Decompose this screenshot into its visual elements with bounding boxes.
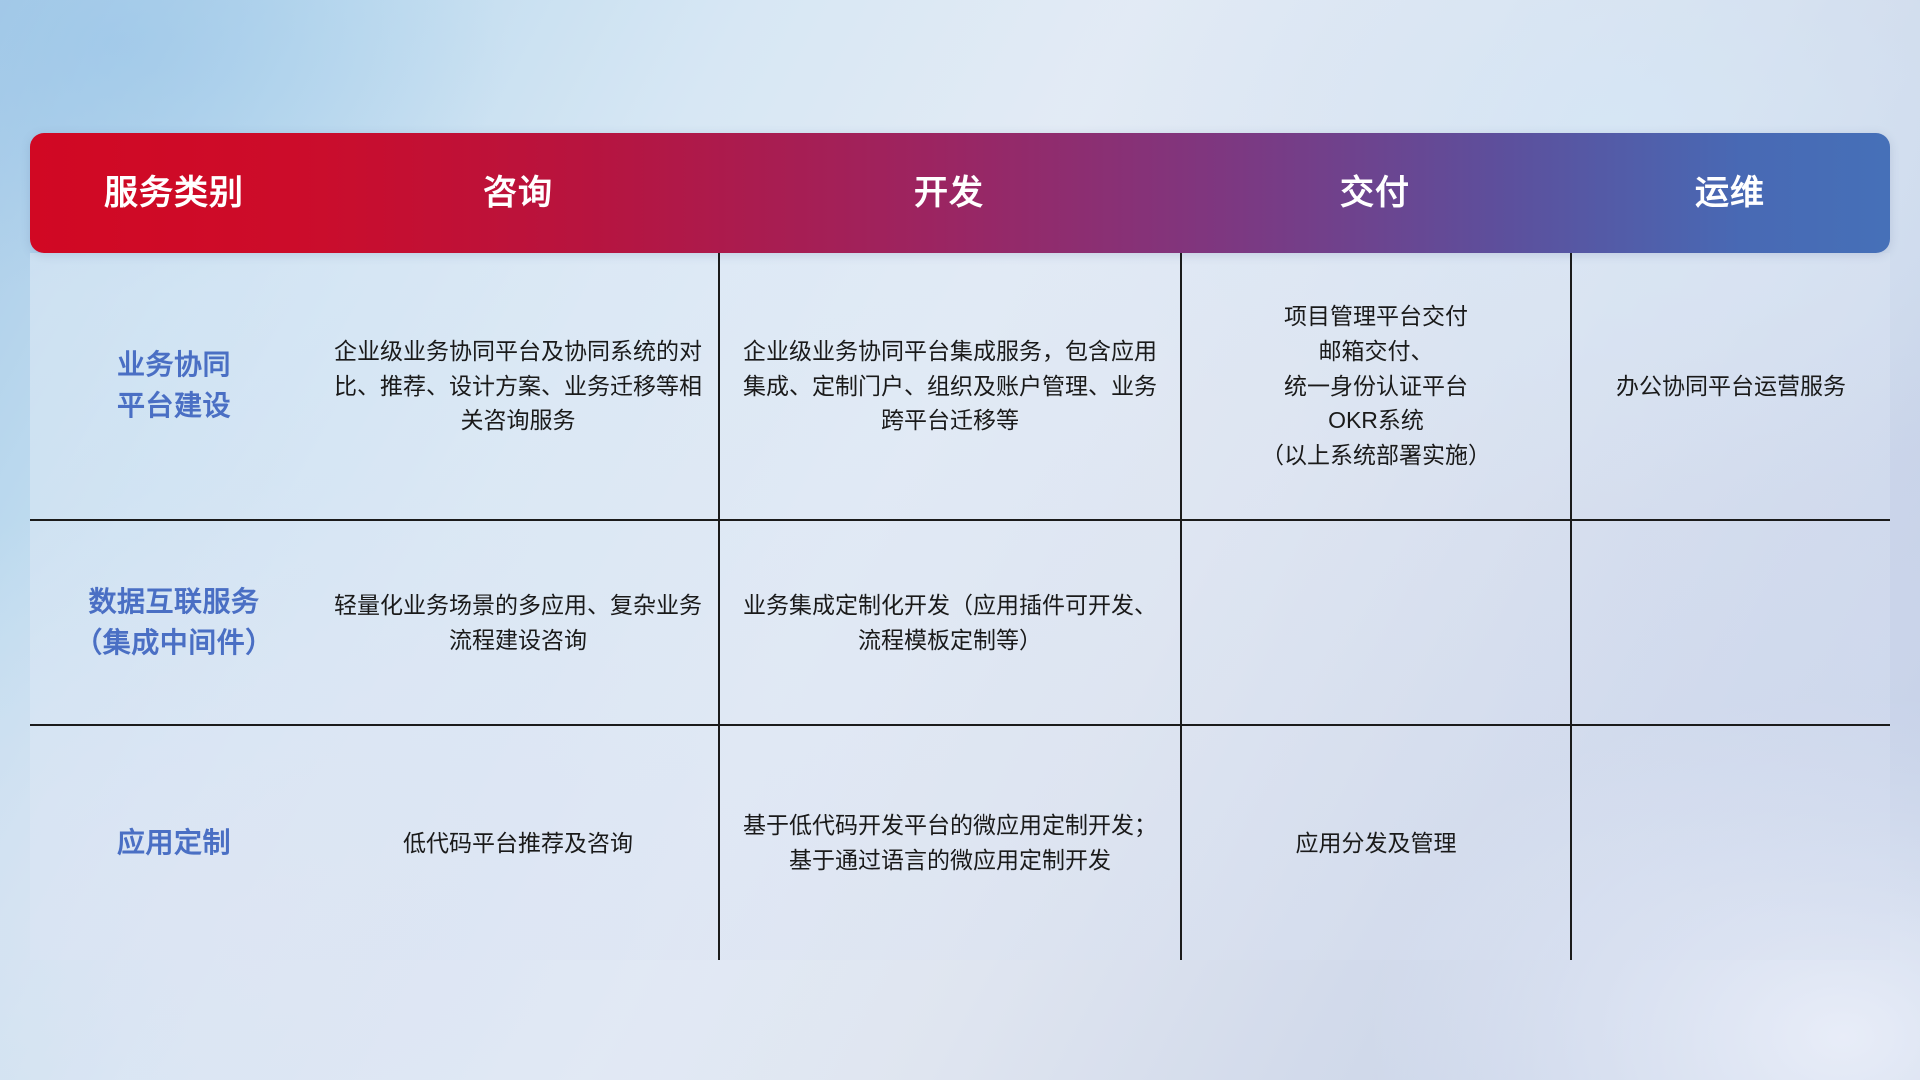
category-label: 应用定制	[117, 823, 231, 864]
column-header-service-category: 服务类别	[30, 176, 318, 210]
table-row: 应用定制 低代码平台推荐及咨询 基于低代码开发平台的微应用定制开发；基于通过语言…	[30, 726, 1890, 960]
cell-operations	[1570, 726, 1890, 960]
column-header-development: 开发	[718, 176, 1180, 210]
table-row: 数据互联服务（集成中间件） 轻量化业务场景的多应用、复杂业务流程建设咨询 业务集…	[30, 521, 1890, 726]
cell-text: 轻量化业务场景的多应用、复杂业务流程建设咨询	[332, 588, 704, 658]
column-header-delivery: 交付	[1180, 176, 1570, 210]
category-label: 数据互联服务（集成中间件）	[74, 582, 274, 663]
cell-consulting: 企业级业务协同平台及协同系统的对比、推荐、设计方案、业务迁移等相关咨询服务	[318, 253, 718, 519]
cell-delivery: 应用分发及管理	[1180, 726, 1570, 960]
category-label: 业务协同平台建设	[117, 345, 231, 426]
column-header-operations: 运维	[1570, 176, 1890, 210]
row-category-cell: 应用定制	[30, 726, 318, 960]
cell-text: 办公协同平台运营服务	[1616, 369, 1846, 404]
service-matrix-table: 服务类别 咨询 开发 交付 运维 业务协同平台建设 企业级业务协同平台及协同系统…	[30, 133, 1890, 960]
cell-delivery	[1180, 521, 1570, 724]
cell-consulting: 轻量化业务场景的多应用、复杂业务流程建设咨询	[318, 521, 718, 724]
cell-development: 基于低代码开发平台的微应用定制开发；基于通过语言的微应用定制开发	[718, 726, 1180, 960]
cell-text: 项目管理平台交付邮箱交付、统一身份认证平台OKR系统（以上系统部署实施）	[1261, 299, 1491, 474]
cell-text: 应用分发及管理	[1296, 826, 1457, 861]
table-header-row: 服务类别 咨询 开发 交付 运维	[30, 133, 1890, 253]
cell-text: 企业级业务协同平台及协同系统的对比、推荐、设计方案、业务迁移等相关咨询服务	[332, 334, 704, 439]
cell-text: 基于低代码开发平台的微应用定制开发；基于通过语言的微应用定制开发	[743, 808, 1157, 878]
row-category-cell: 数据互联服务（集成中间件）	[30, 521, 318, 724]
cell-development: 企业级业务协同平台集成服务，包含应用集成、定制门户、组织及账户管理、业务跨平台迁…	[718, 253, 1180, 519]
cell-consulting: 低代码平台推荐及咨询	[318, 726, 718, 960]
cell-operations: 办公协同平台运营服务	[1570, 253, 1890, 519]
cell-text: 业务集成定制化开发（应用插件可开发、流程模板定制等）	[734, 588, 1166, 658]
column-header-consulting: 咨询	[318, 176, 718, 210]
cell-text: 企业级业务协同平台集成服务，包含应用集成、定制门户、组织及账户管理、业务跨平台迁…	[734, 334, 1166, 439]
row-category-cell: 业务协同平台建设	[30, 253, 318, 519]
table-row: 业务协同平台建设 企业级业务协同平台及协同系统的对比、推荐、设计方案、业务迁移等…	[30, 253, 1890, 521]
cell-development: 业务集成定制化开发（应用插件可开发、流程模板定制等）	[718, 521, 1180, 724]
cell-delivery: 项目管理平台交付邮箱交付、统一身份认证平台OKR系统（以上系统部署实施）	[1180, 253, 1570, 519]
table-body: 业务协同平台建设 企业级业务协同平台及协同系统的对比、推荐、设计方案、业务迁移等…	[30, 253, 1890, 960]
cell-text: 低代码平台推荐及咨询	[403, 826, 633, 861]
cell-operations	[1570, 521, 1890, 724]
